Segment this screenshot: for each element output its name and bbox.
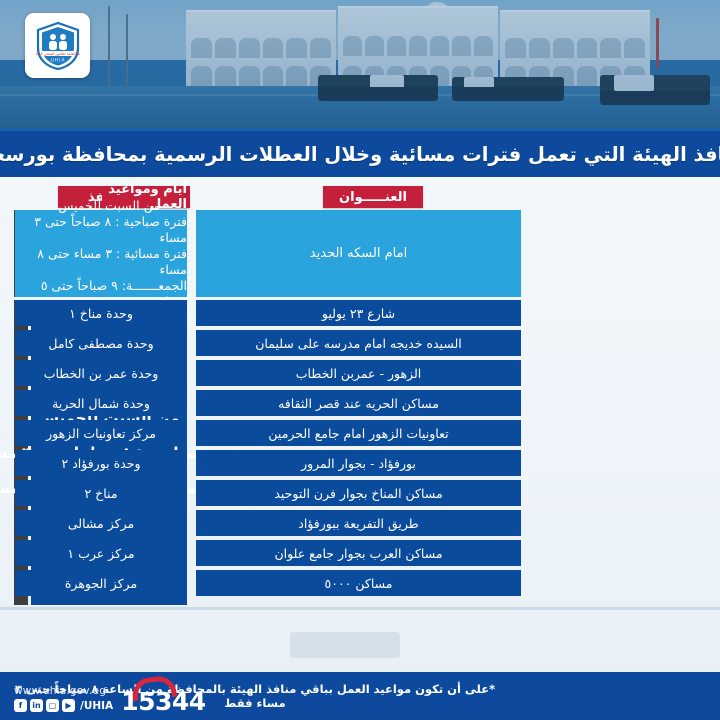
hotline-block: 15344 www.uhia.gov.eg f in ▢ ▶ /UHIA [14, 685, 206, 714]
outlet-name-cell: وحدة مناخ ١ [15, 300, 187, 326]
linkedin-icon[interactable]: in [30, 699, 43, 712]
table-row: مركز تعاونيات الزهور تعاونيات الزهور اما… [0, 420, 720, 446]
outlet-name-cell: مركز الجوهرة [15, 570, 187, 596]
outlet-name-cell: وحدة عمر بن الخطاب [15, 360, 187, 386]
page-title: منافذ الهيئة التي تعمل فترات مسائية وخلا… [0, 143, 720, 166]
infographic-poster: الهيئة العامة للتأمين الصحي الشامل UHIA … [0, 0, 720, 720]
outlet-address-cell: طريق التفريعة ببورفؤاد [196, 510, 521, 536]
table-row: وحدة مصطفى كامل السيده خديجه امام مدرسه … [0, 330, 720, 356]
outlet-address-cell: مساكن العرب بجوار جامع علوان [196, 540, 521, 566]
outlet-address-cell: مساكن ٥٠٠٠ [196, 570, 521, 596]
youtube-icon[interactable]: ▶ [62, 699, 75, 712]
table-row: وحدة مناخ ١ شارع ٢٣ يوليو [0, 300, 720, 326]
instagram-icon[interactable]: ▢ [46, 699, 59, 712]
table-row: مركز الجوهرة مساكن ٥٠٠٠ [0, 570, 720, 596]
outlet-address-cell: السيده خديجه امام مدرسه على سليمان [196, 330, 521, 356]
hotline-number: 15344 [121, 689, 205, 714]
column-header-address: العنـــــوان [323, 186, 423, 208]
outlet-name-cell: وحدة شمال الحرية [15, 390, 187, 416]
outlet-name-cell: مركز مشالى [15, 510, 187, 536]
svg-text:الهيئة العامة للتأمين الصحي ال: الهيئة العامة للتأمين الصحي الشامل [36, 51, 80, 56]
hours-line: فترة مسائية : ٣ مساء حتى ٨ مساء [31, 246, 187, 278]
outlet-address-cell: شارع ٢٣ يوليو [196, 300, 521, 326]
outlet-address-cell: امام السكه الحديد [196, 210, 521, 297]
table-row: مناخ ٢ مساكن المناخ بجوار فرن التوحيد [0, 480, 720, 506]
photo-blue-overlay [0, 0, 720, 131]
table-row: وحدة عمر بن الخطاب الزهور - عمربن الخطاب [0, 360, 720, 386]
outlet-address-cell: مساكن الحريه عند قصر الثقافه [196, 390, 521, 416]
header-banner-photo [0, 0, 720, 131]
hours-line: فترة صباحية : ٨ صباحاً حتى ٣ مساء [31, 214, 187, 246]
outlet-address-cell: بورفؤاد - بجوار المرور [196, 450, 521, 476]
phone-handset-icon [131, 675, 177, 701]
social-handle: /UHIA [80, 700, 113, 712]
shield-icon: الهيئة العامة للتأمين الصحي الشامل UHIA [36, 22, 80, 70]
table-row: وحدة بورفؤاد ٢ بورفؤاد - بجوار المرور [0, 450, 720, 476]
table-row: مركز عرب ١ مساكن العرب بجوار جامع علوان [0, 540, 720, 566]
table-row: وحدة شمال الحرية مساكن الحريه عند قصر ال… [0, 390, 720, 416]
outlet-name-cell: وحدة بورفؤاد ٢ [15, 450, 187, 476]
outlet-name-cell: وحدة مصطفى كامل [15, 330, 187, 356]
outlet-name-cell: مناخ ٢ [15, 480, 187, 506]
outlets-table: الفرع الرئيسي امام السكه الحديد من السبت… [0, 210, 720, 600]
outlet-name-cell: مركز تعاونيات الزهور [15, 420, 187, 446]
hours-line: من السبت للخميس [58, 198, 160, 214]
poster-title-bar: منافذ الهيئة التي تعمل فترات مسائية وخلا… [0, 131, 720, 177]
outlet-hours-cell: من السبت للخميس فترة صباحية : ٨ صباحاً ح… [31, 210, 187, 297]
facebook-icon[interactable]: f [14, 699, 27, 712]
table-row-main-branch: الفرع الرئيسي امام السكه الحديد من السبت… [0, 210, 720, 297]
svg-text:UHIA: UHIA [50, 57, 65, 63]
uhia-logo: الهيئة العامة للتأمين الصحي الشامل UHIA [25, 13, 90, 78]
outlet-address-cell: مساكن المناخ بجوار فرن التوحيد [196, 480, 521, 506]
outlet-address-cell: الزهور - عمربن الخطاب [196, 360, 521, 386]
outlet-address-cell: تعاونيات الزهور امام جامع الحرمين [196, 420, 521, 446]
outlet-name-cell: مركز عرب ١ [15, 540, 187, 566]
social-links[interactable]: f in ▢ ▶ /UHIA [14, 699, 113, 712]
table-row: مركز مشالى طريق التفريعة ببورفؤاد [0, 510, 720, 536]
website-url[interactable]: www.uhia.gov.eg [14, 685, 113, 697]
poster-footer: *على أن تكون مواعيد العمل بباقي منافذ ال… [0, 672, 720, 720]
contact-links: www.uhia.gov.eg f in ▢ ▶ /UHIA [14, 685, 113, 714]
